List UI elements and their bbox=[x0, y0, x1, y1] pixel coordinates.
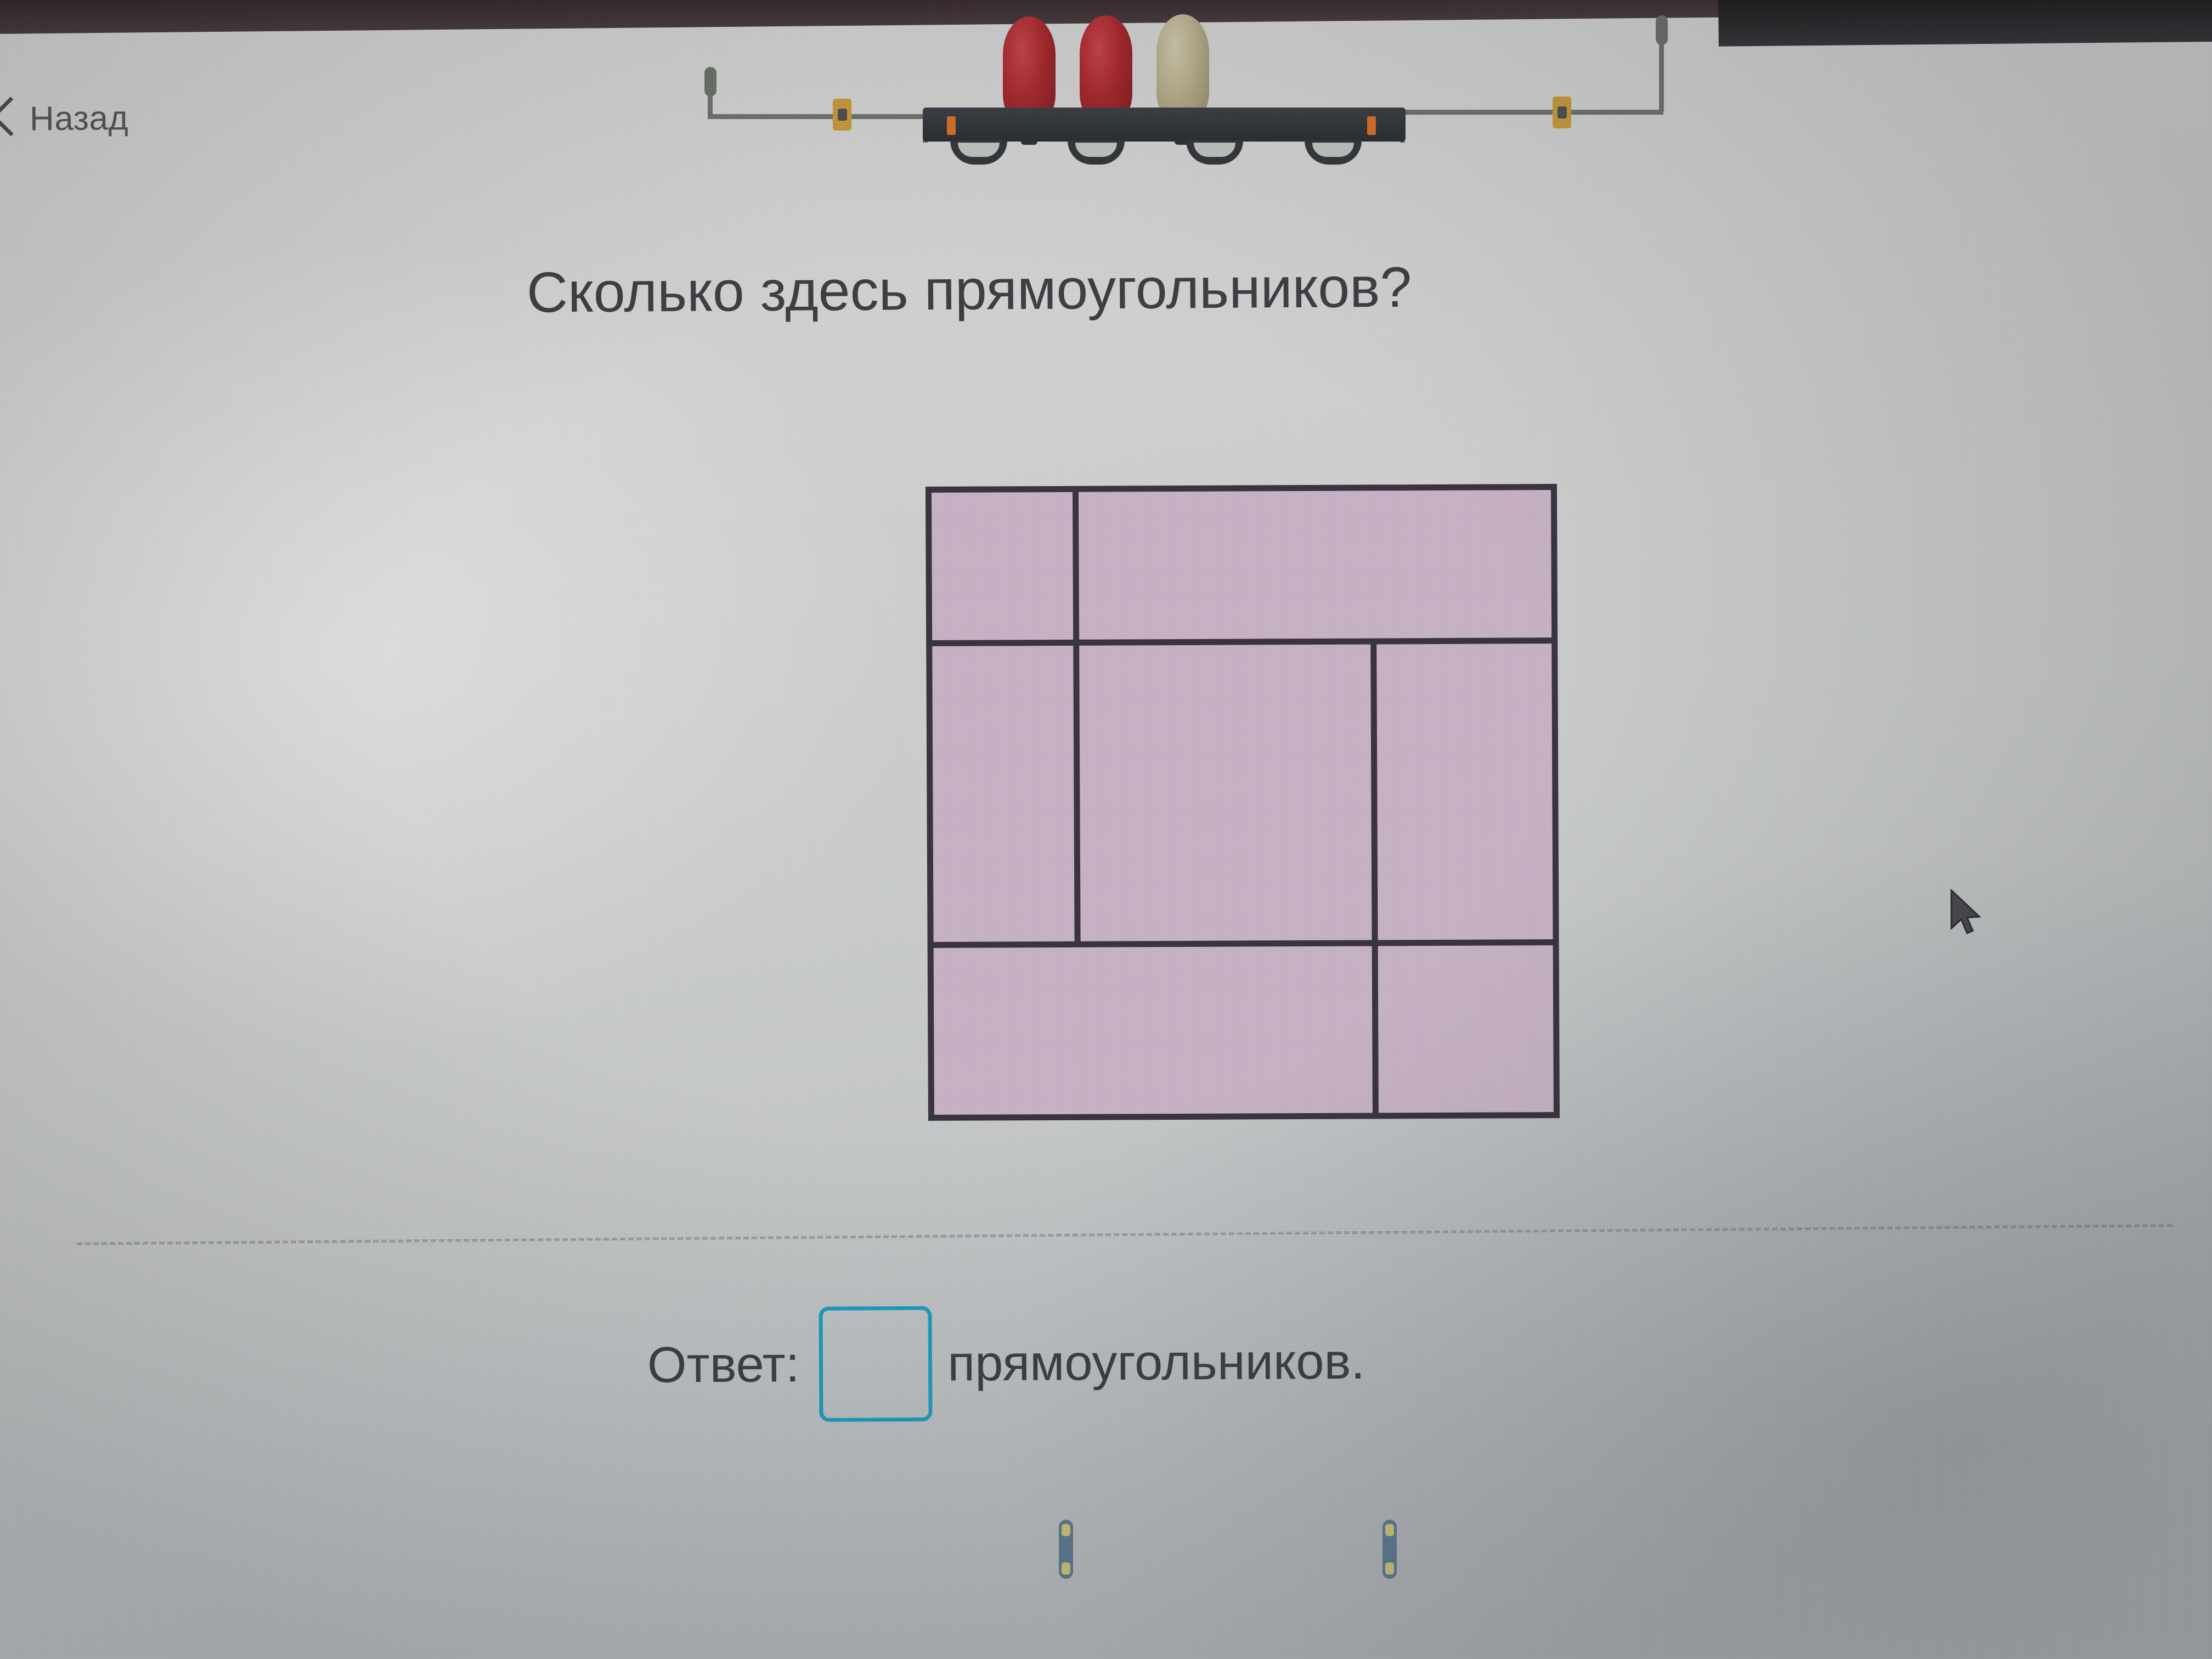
fixture-cup bbox=[950, 140, 1007, 165]
fixture-cup bbox=[1186, 140, 1243, 165]
fixture-cup bbox=[1305, 140, 1362, 165]
pager-dot[interactable] bbox=[1383, 1520, 1397, 1579]
figure-divider-line-3 bbox=[930, 943, 1556, 945]
pager-dot[interactable] bbox=[1059, 1520, 1073, 1579]
balloon-garland-decoration bbox=[708, 44, 1783, 192]
rectangle-count-diagram bbox=[909, 470, 1581, 1142]
page-title: Сколько здесь прямоугольников? bbox=[527, 252, 1910, 325]
wire-right-pin bbox=[1656, 15, 1668, 45]
wire-left-pin bbox=[704, 67, 716, 97]
mouse-pointer-icon bbox=[1946, 889, 1986, 941]
answer-row: Ответ: прямоугольников. bbox=[647, 1304, 1365, 1423]
browser-top-bar-right bbox=[1718, 0, 2212, 47]
wire-right-horizontal bbox=[1400, 110, 1663, 115]
back-button[interactable]: Назад bbox=[0, 97, 128, 140]
answer-label: Ответ: bbox=[647, 1339, 800, 1390]
back-button-label: Назад bbox=[30, 98, 129, 138]
wire-clip-right bbox=[1553, 97, 1571, 128]
chevron-left-icon bbox=[0, 98, 13, 140]
answer-input[interactable] bbox=[819, 1306, 933, 1422]
rectangle-count-svg bbox=[909, 470, 1581, 1142]
fixture-led-left bbox=[947, 116, 956, 135]
fixture-cup-row bbox=[926, 140, 1401, 166]
light-fixture-bar bbox=[923, 108, 1406, 142]
figure-divider-line-1 bbox=[929, 641, 1555, 644]
fixture-cup bbox=[1068, 140, 1125, 165]
wire-left-horizontal bbox=[708, 114, 937, 119]
fixture-led-right bbox=[1367, 116, 1376, 135]
wire-clip-left bbox=[833, 99, 851, 131]
figure-divider-line-2 bbox=[1374, 641, 1376, 1116]
figure-outer-rect bbox=[928, 487, 1556, 1118]
answer-suffix-label: прямоугольников. bbox=[947, 1336, 1365, 1389]
figure-divider-line-0 bbox=[1075, 489, 1077, 944]
